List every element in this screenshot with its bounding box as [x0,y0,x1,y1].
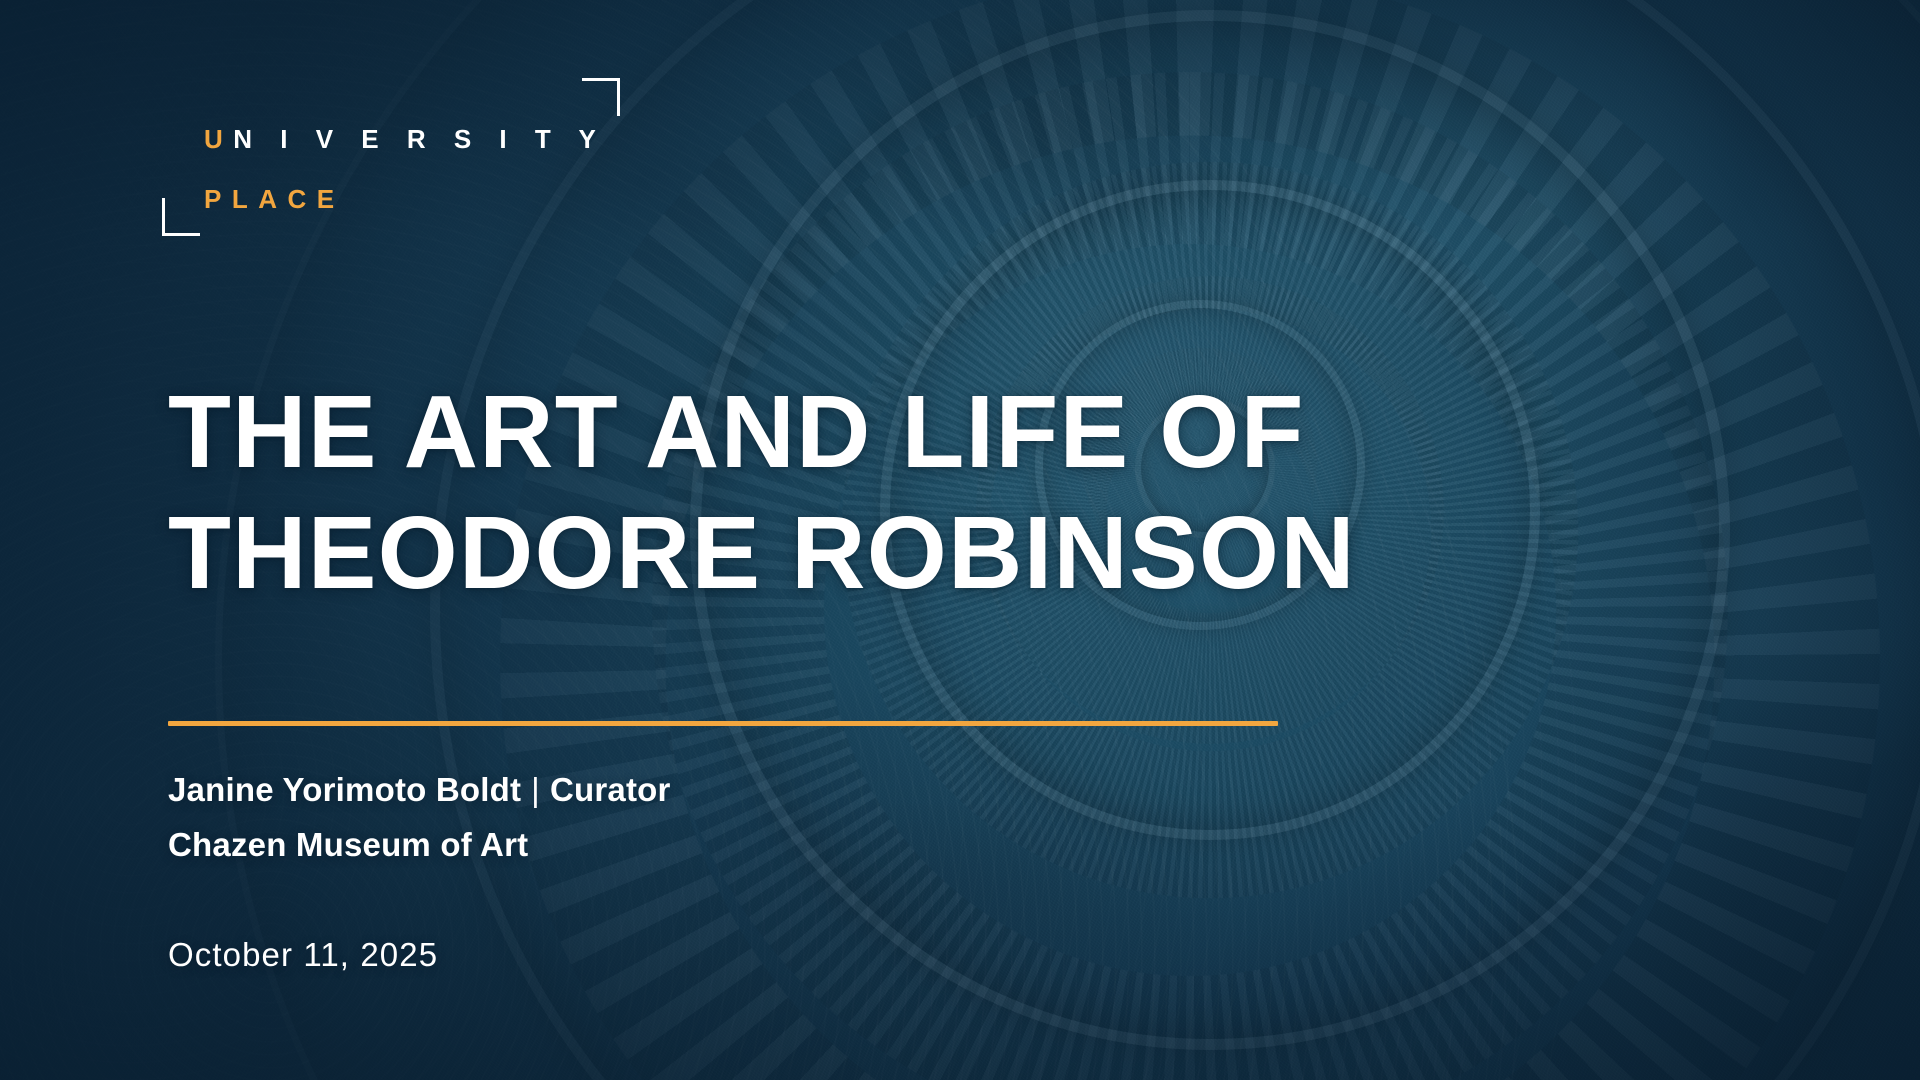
accent-divider [168,721,1278,726]
logo-accent-letter: U [204,124,233,154]
logo-line-university: UN I V E R S I T Y [204,126,606,152]
slide-content: UN I V E R S I T Y PLACE THE ART AND LIF… [0,0,1920,1080]
logo-line-university-rest: N I V E R S I T Y [233,124,606,154]
presenter-role: Curator [550,771,671,808]
corner-bracket-top-right-icon [582,78,620,116]
presenter-row: Janine Yorimoto Boldt|Curator [168,762,671,817]
event-date: October 11, 2025 [168,936,438,974]
page-title-line-2: THEODORE ROBINSON [168,493,1588,614]
page-title-line-1: THE ART AND LIFE OF [168,372,1588,493]
page-title: THE ART AND LIFE OF THEODORE ROBINSON [168,372,1588,613]
university-place-logo[interactable]: UN I V E R S I T Y PLACE [168,96,608,228]
logo-line-place: PLACE [204,186,345,212]
byline-separator: | [521,771,550,808]
corner-bracket-bottom-left-icon [162,198,200,236]
title-slide: UN I V E R S I T Y PLACE THE ART AND LIF… [0,0,1920,1080]
presenter-byline: Janine Yorimoto Boldt|Curator Chazen Mus… [168,762,671,873]
presenter-organization: Chazen Museum of Art [168,817,671,872]
presenter-name: Janine Yorimoto Boldt [168,771,521,808]
